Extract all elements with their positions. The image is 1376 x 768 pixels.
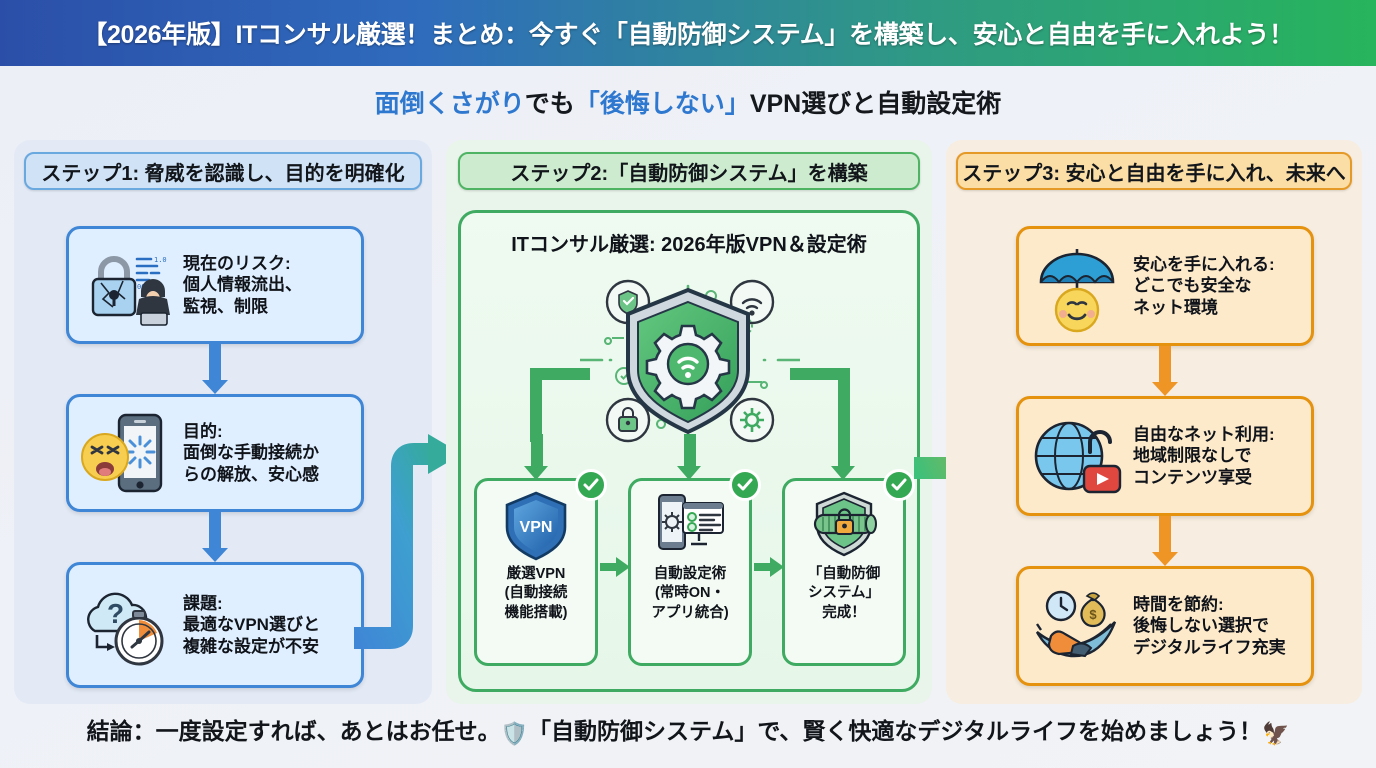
tired-face-loading-phone-icon xyxy=(79,405,175,501)
vpn-shield-icon: VPN xyxy=(499,489,573,563)
hammock-clock-money-icon: $ xyxy=(1029,578,1125,674)
svg-text:VPN: VPN xyxy=(520,519,553,536)
risk-card[interactable]: 1.0 00 現在のリスク: 個人情報流出、 監視、制限 xyxy=(66,226,364,344)
step2-header: ステップ2:「自動防御システム」を構築 xyxy=(458,152,920,190)
eagle-icon: 🦅 xyxy=(1262,721,1289,746)
selected-vpn-step[interactable]: VPN 厳選VPN (自動接続 機能搭載) xyxy=(474,478,598,666)
step1-header: ステップ1: 脅威を認識し、目的を明確化 xyxy=(24,152,422,190)
check-icon xyxy=(729,469,761,501)
globe-unlock-play-icon xyxy=(1029,408,1125,504)
check-icon xyxy=(883,469,915,501)
shield-icon: 🛡️ xyxy=(501,721,528,746)
challenge-card-text: 課題: 最適なVPN選びと 複雑な設定が不安 xyxy=(183,593,320,657)
purpose-card[interactable]: 目的: 面倒な手動接続か らの解放、安心感 xyxy=(66,394,364,512)
footer-conclusion: 結論：一度設定すれば、あとはお任せ。🛡️「自動防御システム」で、賢く快適なデジタ… xyxy=(0,712,1376,747)
step3-header: ステップ3: 安心と自由を手に入れ、未来へ xyxy=(956,152,1352,190)
broken-padlock-hacker-icon: 1.0 00 xyxy=(79,237,175,333)
infographic-canvas: 【2026年版】ITコンサル厳選！まとめ：今すぐ「自動防御システム」を構築し、安… xyxy=(0,0,1376,768)
left-flow-arrow-1 xyxy=(202,344,228,394)
hub-to-step2-arrow xyxy=(677,434,703,480)
auto-defense-complete-step-text: 「自動防御 システム」 完成！ xyxy=(785,565,903,623)
step2-to-step3-arrow xyxy=(754,556,784,578)
free-internet-card[interactable]: 自由なネット利用: 地域制限なしで コンテンツ享受 xyxy=(1016,396,1314,516)
selected-vpn-step-text: 厳選VPN (自動接続 機能搭載) xyxy=(477,565,595,623)
footer-part-2: 「自動防御システム」で、賢く快適なデジタルライフを始めましょう！ xyxy=(528,718,1262,744)
hub-left-feeder-down xyxy=(530,368,542,442)
footer-part-1: 結論：一度設定すれば、あとはお任せ。 xyxy=(87,718,501,744)
auto-defense-complete-step[interactable]: 「自動防御 システム」 完成！ xyxy=(782,478,906,666)
time-saving-card-text: 時間を節約: 後悔しない選択で デジタルライフ充実 xyxy=(1133,594,1286,658)
step1-to-step2-arrow xyxy=(600,556,630,578)
svg-text:1.0: 1.0 xyxy=(154,256,167,264)
hub-right-feeder-down xyxy=(838,368,850,442)
peace-of-mind-card[interactable]: 安心を手に入れる: どこでも安全な ネット環境 xyxy=(1016,226,1314,346)
purpose-card-text: 目的: 面倒な手動接続か らの解放、安心感 xyxy=(183,421,319,485)
time-saving-card[interactable]: $ 時間を節約: 後悔しない選択で デジタルライフ充実 xyxy=(1016,566,1314,686)
subtitle-highlight-1: 面倒くさがり xyxy=(375,90,525,118)
check-icon xyxy=(575,469,607,501)
header-banner: 【2026年版】ITコンサル厳選！まとめ：今すぐ「自動防御システム」を構築し、安… xyxy=(0,0,1376,66)
banner-title: 【2026年版】ITコンサル厳選！まとめ：今すぐ「自動防御システム」を構築し、安… xyxy=(82,15,1294,51)
auto-setup-step-text: 自動設定術 (常時ON・ アプリ統合) xyxy=(631,565,749,623)
question-cloud-stopwatch-icon: ? xyxy=(79,577,175,673)
subtitle: 面倒くさがりでも「後悔しない」VPN選びと自動設定術 xyxy=(0,84,1376,120)
risk-card-text: 現在のリスク: 個人情報流出、 監視、制限 xyxy=(183,253,302,317)
right-flow-arrow-2 xyxy=(1152,516,1178,566)
subtitle-plain-2: VPN選びと自動設定術 xyxy=(750,90,1001,118)
free-internet-card-text: 自由なネット利用: 地域制限なしで コンテンツ享受 xyxy=(1133,424,1275,488)
umbrella-smiley-icon xyxy=(1029,238,1125,334)
left-flow-arrow-2 xyxy=(202,512,228,562)
challenge-card[interactable]: ? 課題: 最適なVPN選びと 複雑な設定が不安 xyxy=(66,562,364,688)
center-board-title: ITコンサル厳選: 2026年版VPN＆設定術 xyxy=(458,228,920,257)
subtitle-plain-1: でも xyxy=(525,90,575,118)
peace-of-mind-card-text: 安心を手に入れる: どこでも安全な ネット環境 xyxy=(1133,254,1275,318)
auto-setup-step[interactable]: 自動設定術 (常時ON・ アプリ統合) xyxy=(628,478,752,666)
right-flow-arrow-1 xyxy=(1152,346,1178,396)
phone-monitor-settings-icon xyxy=(653,489,727,563)
svg-text:$: $ xyxy=(1089,607,1097,622)
subtitle-highlight-2: 「後悔しない」 xyxy=(575,90,750,118)
shield-tunnel-lock-icon xyxy=(807,489,881,563)
